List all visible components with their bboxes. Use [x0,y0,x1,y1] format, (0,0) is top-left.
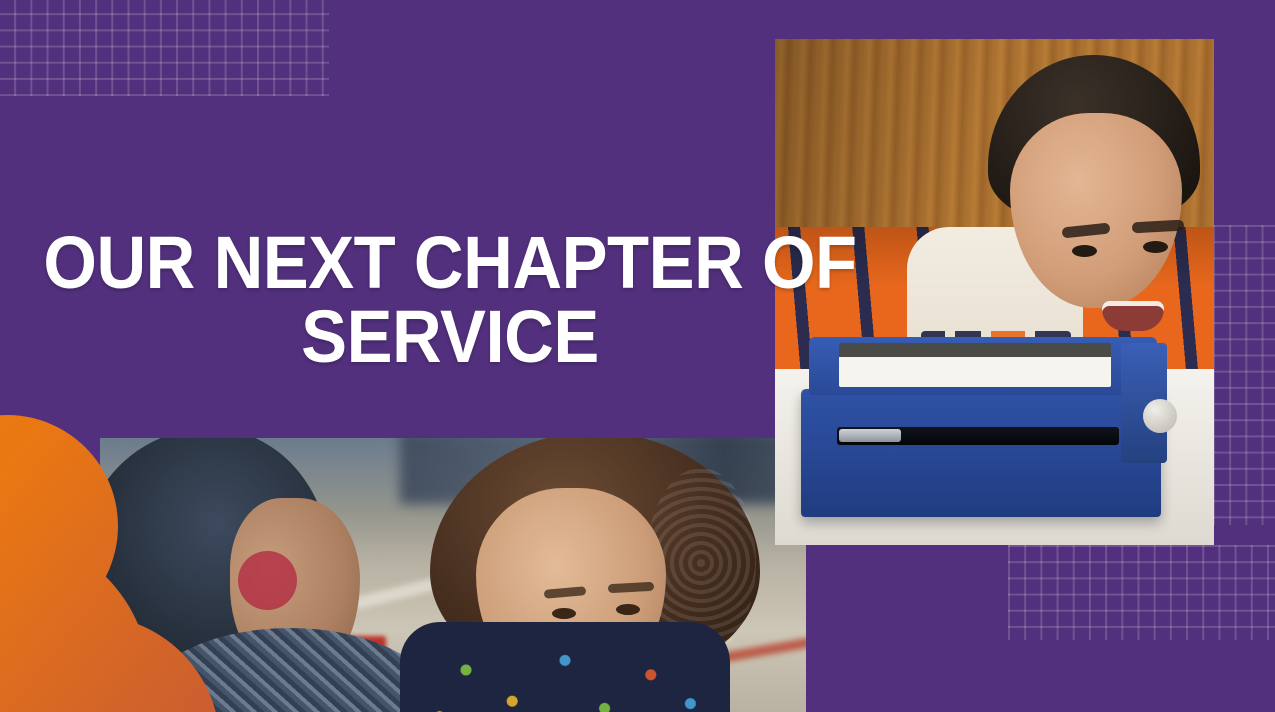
grid-pattern-top-left [0,0,329,96]
toddler-brow-left [544,586,587,599]
braille-writer-key-slot [837,427,1119,445]
blob-circle-3 [0,615,220,712]
boy-eye-left [1072,245,1097,257]
braille-writer-knob [1143,399,1177,433]
toddler-eye-right [616,604,640,615]
boy-brow-left [1062,223,1111,239]
white-table [775,369,1214,545]
toddler-eye-left [552,608,576,619]
accent-circle-red [238,551,297,610]
boy-brow-right [1132,220,1185,234]
boy-head [980,55,1208,345]
toddler-figure [430,438,770,712]
boy-mouth [1102,301,1164,331]
toddler-brow-right [608,582,654,593]
boy-eye-right [1143,241,1168,253]
braille-writer [801,389,1161,517]
braille-writer-paper [839,343,1111,387]
gradient-blob [0,415,270,712]
toddler-jacket [400,622,730,712]
slide-canvas: OUR NEXT CHAPTER OF SERVICE [0,0,1275,712]
page-title: OUR NEXT CHAPTER OF SERVICE [32,226,869,374]
boy-face [1010,113,1182,308]
grid-pattern-right [1213,225,1275,525]
grid-pattern-bottom-right [1008,545,1275,640]
